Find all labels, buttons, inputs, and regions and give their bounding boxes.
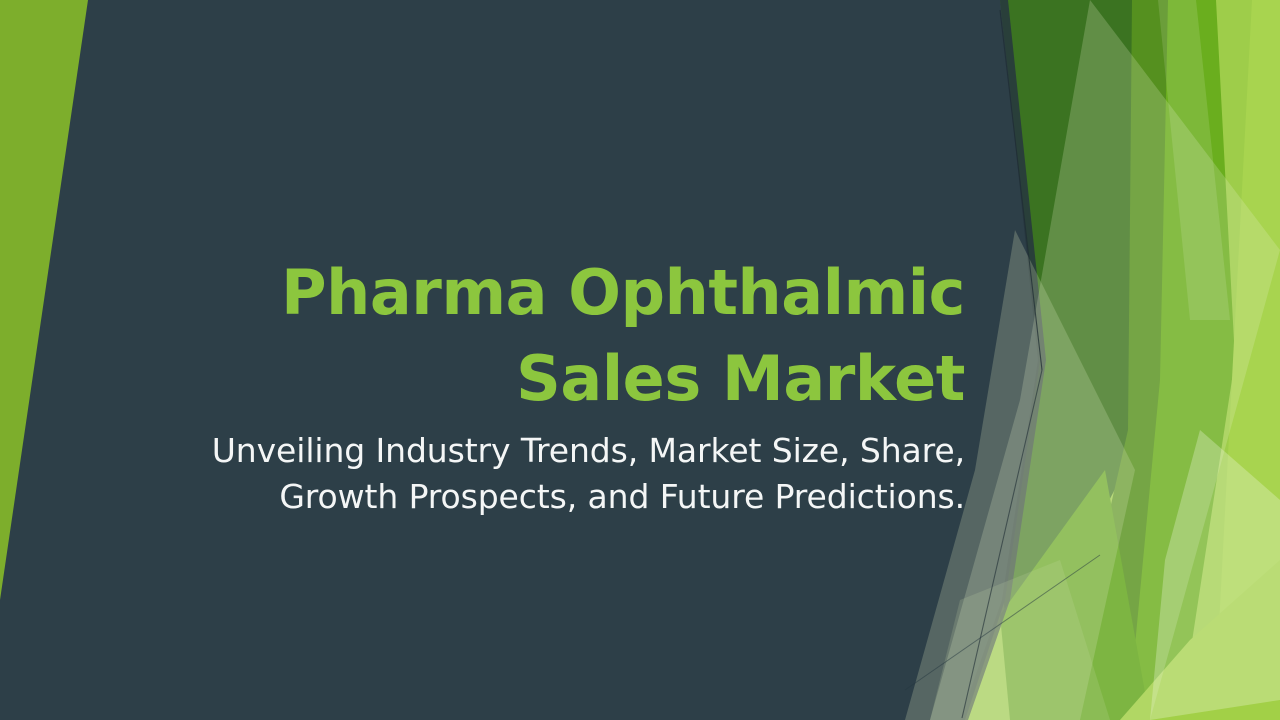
presentation-slide: Pharma Ophthalmic Sales Market Unveiling… [0,0,1280,720]
title-placeholder: Pharma Ophthalmic Sales Market [190,250,965,421]
page-title: Pharma Ophthalmic Sales Market [190,250,965,421]
page-subtitle: Unveiling Industry Trends, Market Size, … [190,428,965,520]
subtitle-placeholder: Unveiling Industry Trends, Market Size, … [190,428,965,520]
